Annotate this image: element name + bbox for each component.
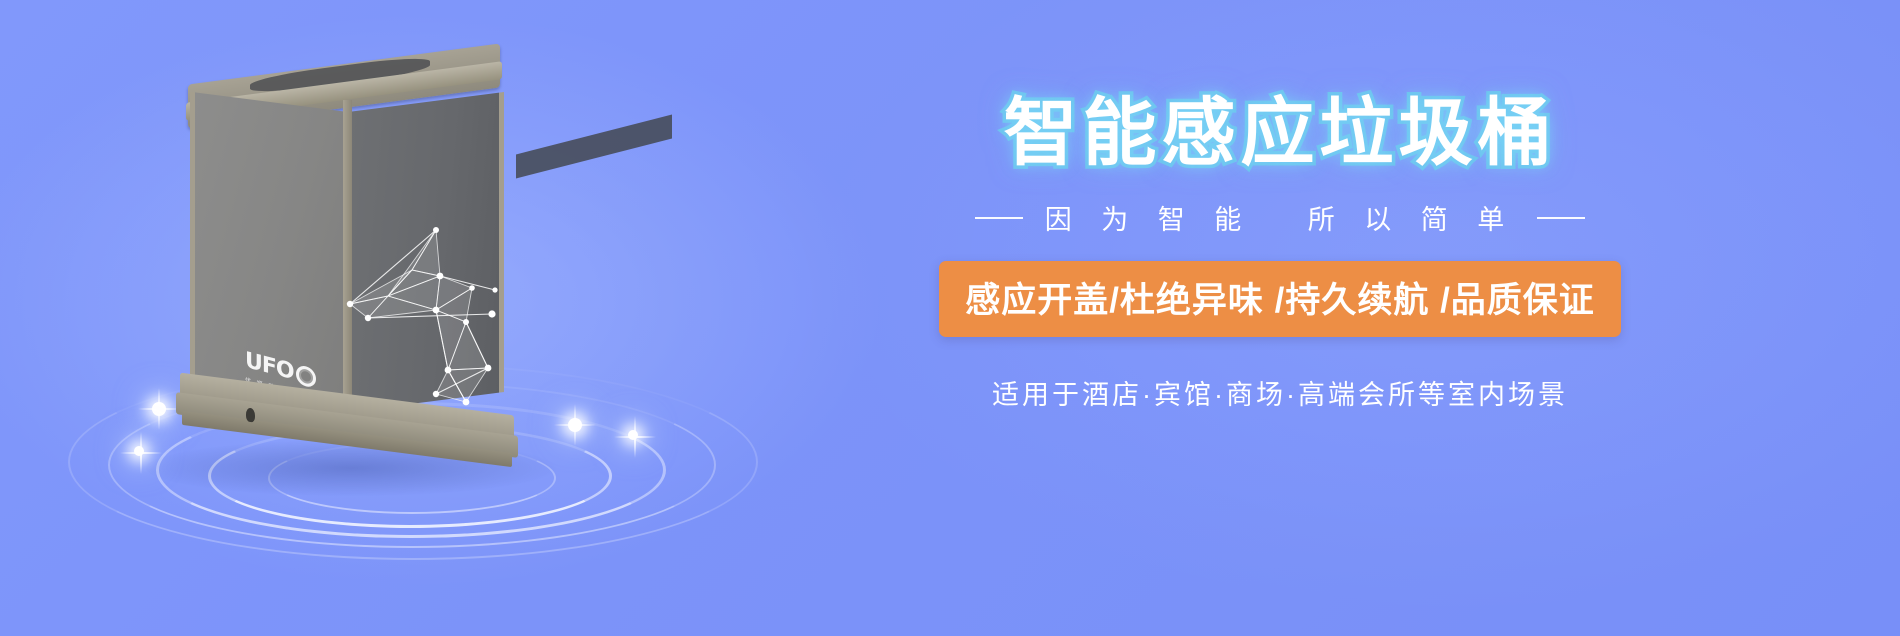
marketing-copy: 智能感应垃圾桶 因 为 智 能 所 以 简 单 感应开盖/杜绝异味 /持久续航 … (720, 96, 1840, 412)
sparkle-icon (152, 402, 166, 416)
tagline-row: 因 为 智 能 所 以 简 单 (720, 198, 1840, 237)
sparkle-icon (134, 446, 144, 456)
tagline-dash-right-icon (1537, 217, 1585, 219)
feature-badge: 感应开盖/杜绝异味 /持久续航 /品质保证 (939, 261, 1621, 337)
page-title: 智能感应垃圾桶 (720, 96, 1840, 170)
tagline-text: 因 为 智 能 所 以 简 单 (1045, 198, 1516, 237)
brand-ring-icon (296, 364, 316, 389)
trash-bin-illustration: UFO 优 福 欧 环 保 S M A R T I N D U C T I O … (180, 48, 520, 468)
bin-face-right-shadow (516, 114, 672, 178)
use-cases-text: 适用于酒店·宾馆·商场·高端会所等室内场景 (720, 373, 1840, 412)
product-stage: UFO 优 福 欧 环 保 S M A R T I N D U C T I O … (60, 20, 760, 620)
tagline-dash-left-icon (975, 217, 1023, 219)
promo-banner: UFO 优 福 欧 环 保 S M A R T I N D U C T I O … (0, 0, 1900, 636)
bin-face-left: UFO 优 福 欧 环 保 S M A R T I N D U C T I O … (190, 92, 350, 412)
sparkle-icon (568, 418, 582, 432)
low-poly-graphic (340, 218, 515, 418)
sparkle-icon (628, 430, 638, 440)
bin-lock-icon (246, 407, 255, 422)
